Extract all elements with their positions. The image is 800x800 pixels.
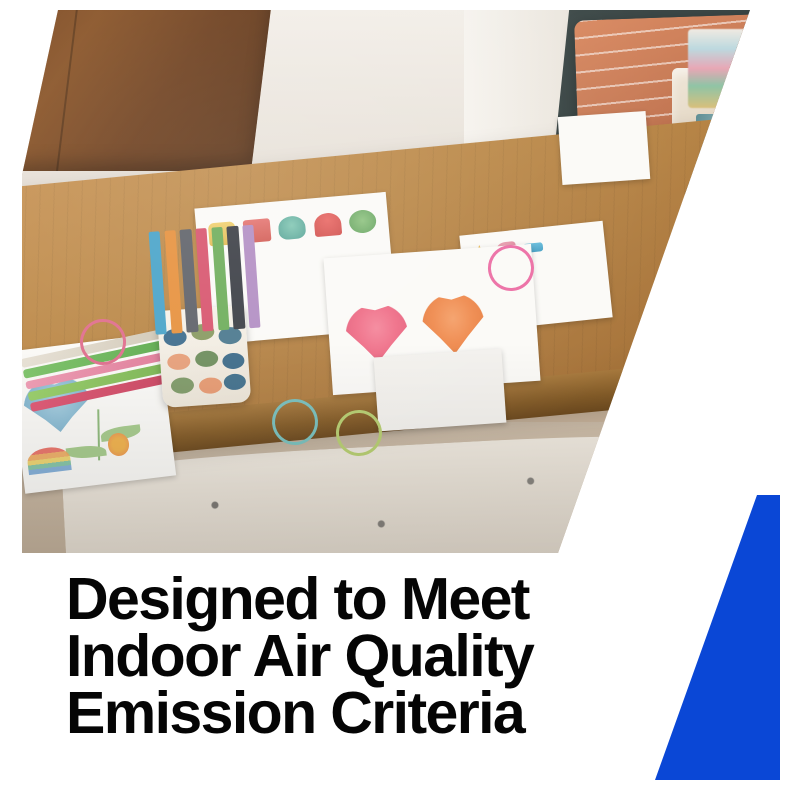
photo-scene bbox=[0, 0, 800, 570]
hero-photo bbox=[0, 0, 800, 570]
basket-toy-doll bbox=[688, 29, 760, 109]
mug-dot-8 bbox=[198, 376, 222, 394]
wooden-cabinet bbox=[0, 0, 272, 171]
mug-dot-4 bbox=[167, 352, 191, 370]
mug-dot-5 bbox=[195, 349, 219, 367]
paper-sheet-far bbox=[558, 111, 651, 185]
mug-marker-pink bbox=[195, 228, 213, 331]
doodle-mushroom-icon bbox=[313, 211, 342, 236]
mug-dot-6 bbox=[221, 351, 245, 369]
blue-angled-accent-shape bbox=[640, 490, 790, 785]
leaf-shape-left bbox=[66, 443, 107, 461]
mug-marker-grey bbox=[180, 229, 198, 332]
mug-marker-purple bbox=[242, 225, 260, 328]
mug-dot-7 bbox=[170, 376, 194, 394]
mug-dot-9 bbox=[223, 373, 247, 391]
doodle-leaf-icon bbox=[349, 208, 378, 233]
mug-marker-green bbox=[211, 227, 229, 330]
mug-marker-orange bbox=[164, 230, 182, 333]
doodle-tree-icon bbox=[278, 214, 307, 239]
butterfly-artwork-orange bbox=[420, 291, 487, 358]
rainbow-doodle bbox=[26, 445, 71, 476]
mug-marker-black bbox=[227, 226, 245, 329]
markers-in-mug bbox=[149, 224, 268, 334]
paper-sheet-blank bbox=[374, 349, 507, 432]
page-title: Designed to Meet Indoor Air Quality Emis… bbox=[66, 571, 586, 742]
banner-canvas: Designed to Meet Indoor Air Quality Emis… bbox=[0, 0, 800, 800]
